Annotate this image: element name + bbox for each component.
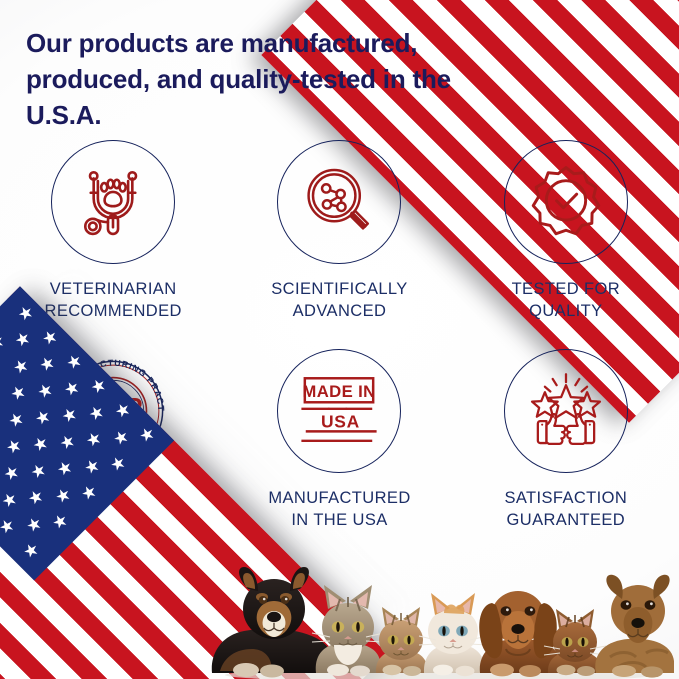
rosette-check-icon — [525, 161, 607, 243]
badge-label-line1: SCIENTIFICALLY — [271, 280, 407, 298]
flag-star — [37, 354, 57, 374]
flag-star — [111, 428, 131, 448]
flag-star — [33, 408, 53, 428]
badge-label-line2: QUALITY — [529, 302, 602, 320]
flag-star — [35, 381, 55, 401]
flag-star — [0, 490, 19, 510]
flag-star — [84, 429, 104, 449]
flag-star-row — [0, 379, 82, 543]
flag-star — [60, 405, 80, 425]
flag-star — [0, 386, 2, 406]
stethoscope-paw-icon — [71, 160, 155, 244]
flag-star — [89, 376, 109, 396]
pet-dog-red-setter — [479, 591, 560, 677]
pet-cat-tabby-white — [312, 585, 384, 677]
badge-label-line1: MANUFACTURED — [268, 489, 410, 507]
page-title: Our products are manufactured, produced,… — [26, 26, 456, 134]
badge-label-line1: VETERINARIAN — [50, 280, 177, 298]
badge-label-line2: RECOMMENDED — [45, 302, 182, 320]
pet-cat-white-orange — [419, 593, 487, 676]
flag-star — [11, 357, 31, 377]
badge-satisfaction-guaranteed[interactable]: SATISFACTIONGUARANTEED — [453, 349, 679, 532]
flag-star — [4, 437, 24, 457]
badge-circle: MADE IN USA — [277, 349, 401, 473]
flag-star — [55, 458, 75, 478]
badge-circle — [504, 349, 628, 473]
flag-star — [26, 487, 46, 507]
badge-circle — [277, 140, 401, 264]
badge-scientifically-advanced[interactable]: SCIENTIFICALLYADVANCED — [226, 140, 452, 323]
pet-cat-brown-tabby — [376, 607, 427, 676]
flag-star — [8, 383, 28, 403]
usa-text: USA — [321, 412, 360, 432]
pets-photo — [200, 553, 679, 679]
flag-star — [40, 328, 60, 348]
badge-circle — [504, 140, 628, 264]
flag-star — [58, 432, 78, 452]
badge-label-line2: IN THE USA — [291, 511, 387, 529]
pet-dog-black-tan — [212, 567, 335, 678]
flag-star — [0, 516, 17, 536]
made-in-text: MADE IN — [303, 382, 376, 401]
badge-label-line1: TESTED FOR — [512, 280, 621, 298]
flag-star — [137, 425, 157, 445]
badge-tested-for-quality[interactable]: TESTED FORQUALITY — [453, 140, 679, 323]
flag-star — [6, 410, 26, 430]
magnifier-molecule-icon — [299, 162, 379, 242]
badge-label: TESTED FORQUALITY — [512, 279, 621, 323]
flag-star — [50, 512, 70, 532]
flag-star — [64, 352, 84, 372]
badge-label: SATISFACTIONGUARANTEED — [504, 488, 627, 532]
flag-star — [21, 541, 41, 561]
promo-banner: Our products are manufactured, produced,… — [0, 0, 679, 679]
made-in-usa-stamp-icon: MADE IN USA — [295, 371, 383, 451]
thumbs-up-stars-icon — [523, 371, 609, 451]
flag-star — [87, 403, 107, 423]
flag-star — [82, 457, 102, 477]
badge-label-line2: GUARANTEED — [507, 511, 626, 529]
flag-star — [108, 454, 128, 474]
pet-dog-brown-right — [595, 575, 674, 678]
badge-veterinarian-recommended[interactable]: VETERINARIANRECOMMENDED — [0, 140, 226, 323]
flag-star — [2, 463, 22, 483]
badge-label-line2: ADVANCED — [293, 302, 387, 320]
badge-label: MANUFACTUREDIN THE USA — [268, 488, 410, 532]
flag-star — [53, 486, 73, 506]
flag-star — [31, 434, 51, 454]
badge-label-line1: SATISFACTION — [504, 489, 627, 507]
flag-star — [0, 332, 7, 352]
flag-star — [62, 379, 82, 399]
badge-label: SCIENTIFICALLYADVANCED — [271, 279, 407, 323]
flag-star — [16, 303, 36, 323]
badge-manufactured-in-the-usa[interactable]: MADE IN USA MANUFACTUREDIN THE USA — [226, 349, 452, 532]
badge-circle — [51, 140, 175, 264]
badge-row-1: VETERINARIANRECOMMENDED — [0, 140, 679, 323]
flag-star — [13, 329, 33, 349]
flag-star — [29, 461, 49, 481]
badge-label: VETERINARIANRECOMMENDED — [45, 279, 182, 323]
flag-star — [0, 358, 4, 378]
flag-star — [24, 515, 44, 535]
flag-star — [113, 400, 133, 420]
flag-star — [79, 483, 99, 503]
pets-group-illustration — [200, 553, 679, 679]
